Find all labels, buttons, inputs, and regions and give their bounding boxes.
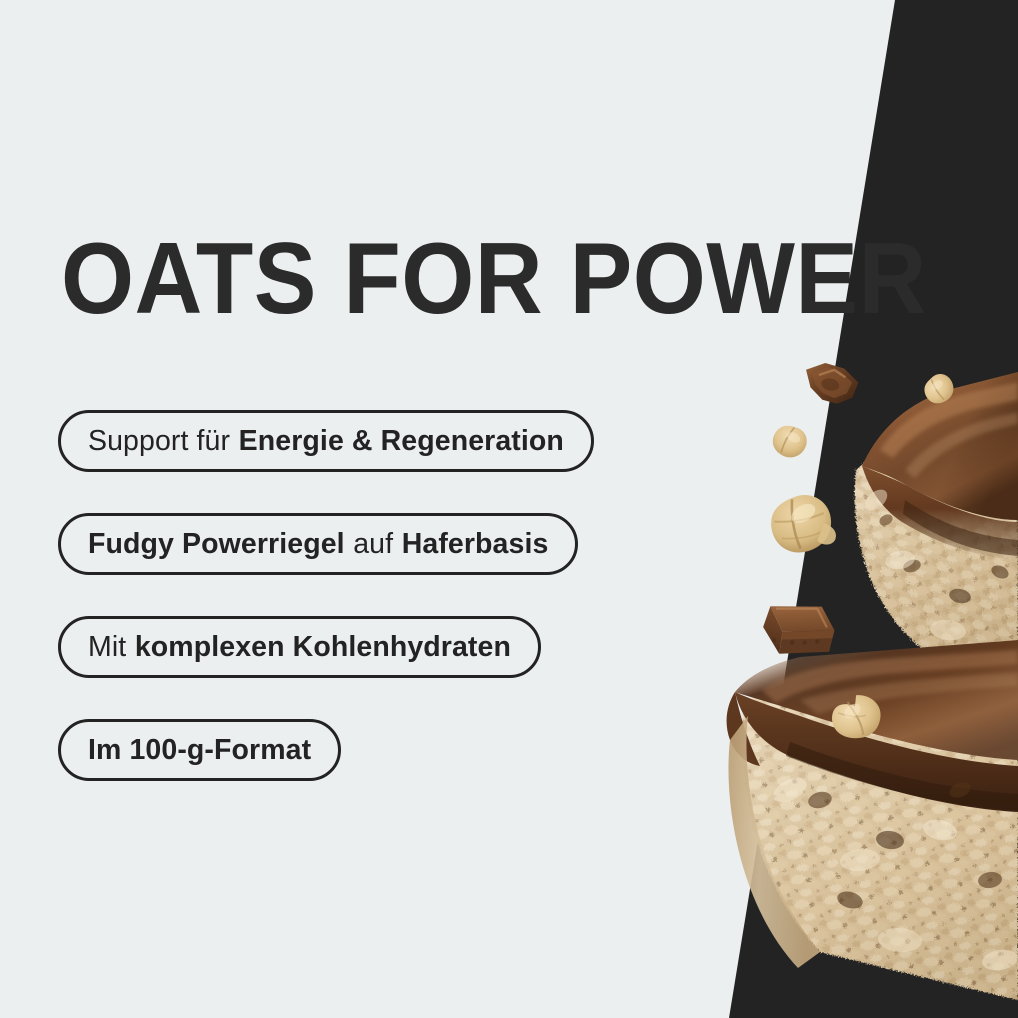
feature-text-regular: Mit — [88, 633, 126, 662]
oat-flake-small-b — [919, 370, 959, 409]
page-title: OATS FOR POWER — [61, 233, 927, 326]
feature-text-bold: Fudgy Powerriegel — [88, 530, 345, 559]
feature-text-bold-2: Haferbasis — [402, 530, 549, 559]
feature-pill-format-100-g[interactable]: Im 100-g-Format — [58, 719, 341, 781]
feature-text-bold: Im 100-g-Format — [88, 736, 311, 765]
feature-text-bold: komplexen Kohlenhydraten — [135, 633, 511, 662]
feature-text-bold: Energie & Regeneration — [239, 427, 564, 456]
oat-bar-lower — [727, 640, 1018, 1000]
oat-flake-small-a — [768, 420, 812, 463]
chocolate-chunk-top — [805, 359, 860, 408]
oat-bar-upper — [848, 372, 1018, 690]
feature-pill-fudgy-powerriegel-haferbasis[interactable]: Fudgy Powerriegel auf Haferbasis — [58, 513, 578, 575]
feature-text-regular: Support für — [88, 427, 230, 456]
oat-flake-on-bar — [827, 690, 886, 744]
feature-pill-komplexe-kohlenhydrate[interactable]: Mit komplexen Kohlenhydraten — [58, 616, 541, 678]
dark-panel-shape — [729, 0, 1018, 1018]
promo-banner: OATS FOR POWER Support für Energie & Reg… — [0, 0, 1018, 1018]
oat-flake-large — [766, 490, 838, 558]
chocolate-chunk-square — [758, 594, 839, 665]
feature-text-regular: auf — [353, 530, 393, 559]
feature-pill-support-energie-regeneration[interactable]: Support für Energie & Regeneration — [58, 410, 594, 472]
feature-pill-list: Support für Energie & Regeneration Fudgy… — [58, 410, 594, 781]
